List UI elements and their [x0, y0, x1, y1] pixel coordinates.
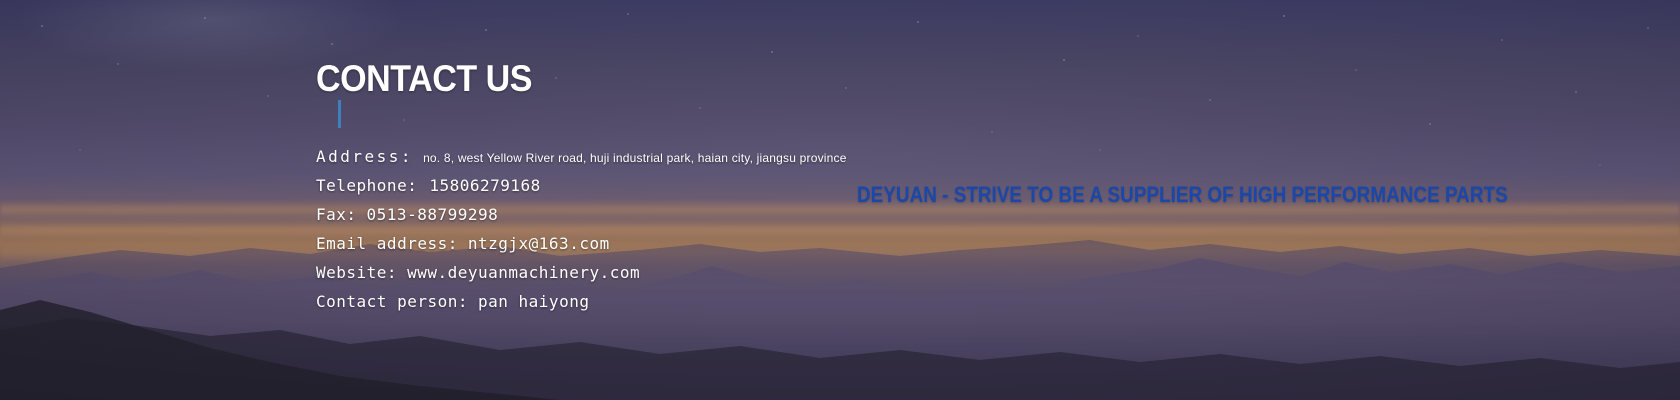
address-value: no. 8, west Yellow River road, huji indu… — [423, 151, 847, 165]
fax-label: Fax: — [316, 205, 357, 224]
website-label: Website: — [316, 263, 397, 282]
fax-value: 0513-88799298 — [367, 205, 499, 224]
contact-person-label: Contact person: — [316, 292, 468, 311]
page-title: CONTACT US — [316, 60, 532, 97]
contact-us-banner: CONTACT US Address:no. 8, west Yellow Ri… — [0, 0, 1680, 400]
banner-content: CONTACT US Address:no. 8, west Yellow Ri… — [0, 0, 1680, 400]
title-accent-bar — [338, 100, 341, 128]
telephone-label: Telephone: — [316, 176, 417, 195]
contact-row-website: Website:www.deyuanmachinery.com — [316, 258, 1076, 287]
contact-row-contact-person: Contact person:pan haiyong — [316, 287, 1076, 316]
contact-details-list: Address:no. 8, west Yellow River road, h… — [316, 142, 1076, 316]
address-label: Address: — [316, 147, 413, 166]
contact-row-address: Address:no. 8, west Yellow River road, h… — [316, 142, 1076, 171]
email-value[interactable]: ntzgjx@163.com — [468, 234, 610, 253]
company-tagline: DEYUAN - STRIVE TO BE A SUPPLIER OF HIGH… — [857, 184, 1508, 206]
contact-row-email: Email address:ntzgjx@163.com — [316, 229, 1076, 258]
contact-person-value: pan haiyong — [478, 292, 589, 311]
telephone-value[interactable]: 15806279168 — [429, 176, 540, 195]
website-value[interactable]: www.deyuanmachinery.com — [407, 263, 640, 282]
email-label: Email address: — [316, 234, 458, 253]
